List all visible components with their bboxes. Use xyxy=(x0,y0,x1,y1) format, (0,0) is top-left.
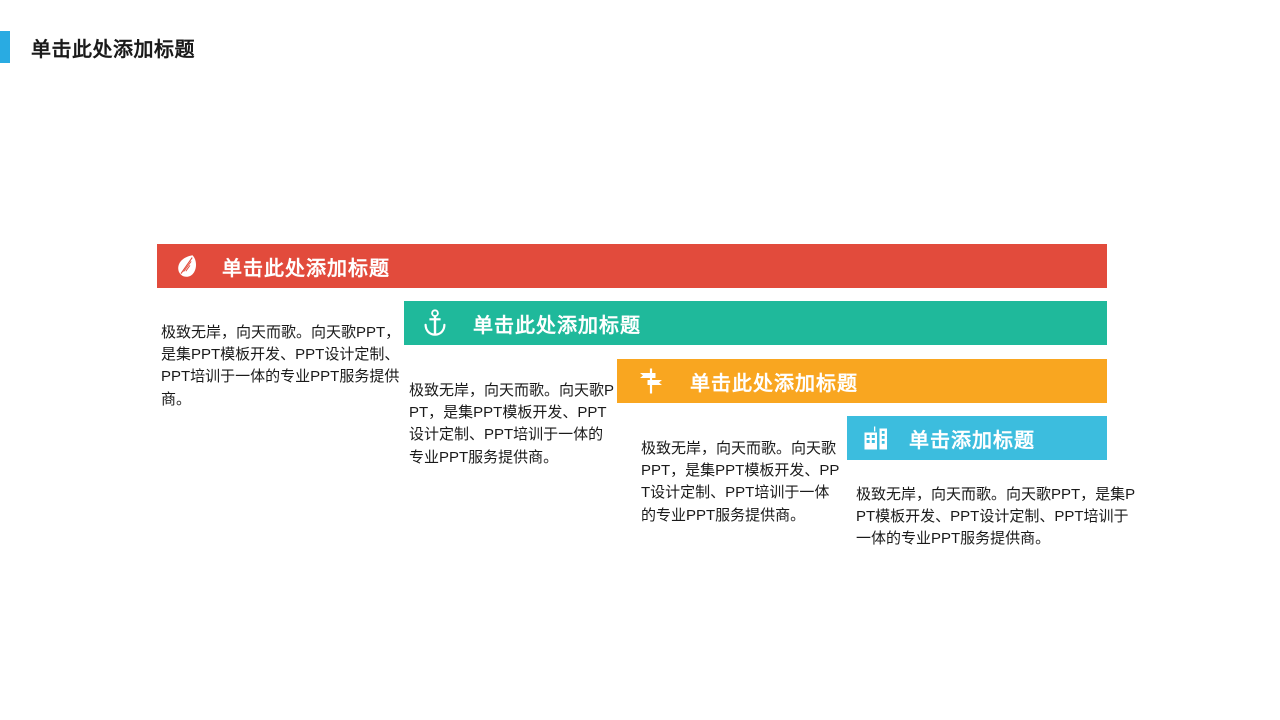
body-text-1: 极致无岸，向天而歌。向天歌PPT，是集PPT模板开发、PPT设计定制、PPT培训… xyxy=(161,322,405,411)
banner-blue[interactable]: 单击添加标题 xyxy=(847,416,1107,460)
leaf-icon xyxy=(170,251,204,281)
header-accent-bar xyxy=(0,31,10,63)
page-title: 单击此处添加标题 xyxy=(31,33,195,62)
body-text-3: 极致无岸，向天而歌。向天歌PPT，是集PPT模板开发、PPT设计定制、PPT培训… xyxy=(641,438,841,527)
banner-title-3: 单击此处添加标题 xyxy=(690,367,858,396)
stair-step-1: 单击此处添加标题 极致无岸，向天而歌。向天歌PPT，是集PPT模板开发、PPT设… xyxy=(157,244,1107,288)
body-text-2: 极致无岸，向天而歌。向天歌PPT，是集PPT模板开发、PPT设计定制、PPT培训… xyxy=(409,380,615,469)
stair-step-2: 单击此处添加标题 极致无岸，向天而歌。向天歌PPT，是集PPT模板开发、PPT设… xyxy=(404,301,1107,345)
banner-teal[interactable]: 单击此处添加标题 xyxy=(404,301,1107,345)
banner-red[interactable]: 单击此处添加标题 xyxy=(157,244,1107,288)
slide-header: 单击此处添加标题 xyxy=(0,30,195,64)
stair-step-3: 单击此处添加标题 极致无岸，向天而歌。向天歌PPT，是集PPT模板开发、PPT设… xyxy=(617,359,1107,403)
banner-orange[interactable]: 单击此处添加标题 xyxy=(617,359,1107,403)
anchor-icon xyxy=(418,308,452,338)
banner-title-1: 单击此处添加标题 xyxy=(222,252,390,281)
stair-step-4: 单击添加标题 极致无岸，向天而歌。向天歌PPT，是集PPT模板开发、PPT设计定… xyxy=(847,416,1107,460)
banner-title-2: 单击此处添加标题 xyxy=(473,309,641,338)
banner-title-4: 单击添加标题 xyxy=(909,424,1035,453)
signpost-icon xyxy=(634,366,668,396)
body-text-4: 极致无岸，向天而歌。向天歌PPT，是集PPT模板开发、PPT设计定制、PPT培训… xyxy=(856,484,1136,551)
buildings-icon xyxy=(859,423,893,453)
